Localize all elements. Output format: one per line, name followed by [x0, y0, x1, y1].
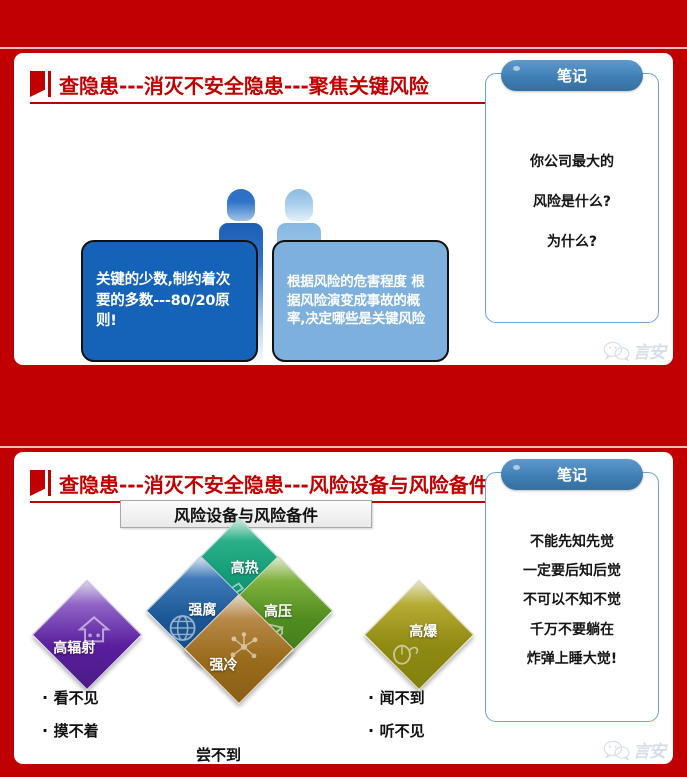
notes-panel-1: 笔记 你公司最大的 风险是什么? 为什么? — [485, 73, 659, 323]
house-icon — [77, 614, 111, 644]
list-item: 摸不着 — [42, 723, 99, 739]
watermark-2: 言安 — [603, 737, 665, 762]
mouse-icon — [391, 640, 423, 666]
diamond-label: 高爆 — [385, 621, 461, 641]
callout-right-text: 根据风险的危害程度 根据风险演变成事故的概率,决定哪些是关键风险 — [287, 273, 434, 329]
list-item: 听不见 — [368, 723, 425, 739]
slide-1: 查隐患---消灭不安全隐患---聚焦关键风险 关键的少数,制约着次要的多数---… — [14, 53, 673, 365]
notes-line: 一定要后知后觉 — [523, 558, 621, 585]
red-flag-icon — [30, 470, 52, 496]
notes-line: 你公司最大的 — [530, 146, 614, 178]
page-title: 查隐患---消灭不安全隐患---风险设备与风险备件 — [59, 469, 489, 498]
callout-left-text: 关键的少数,制约着次要的多数---80/20原则! — [96, 270, 243, 332]
notes-line: 为什么? — [547, 226, 597, 258]
watermark-text: 言安 — [633, 737, 665, 762]
notes-body-2: 不能先知先觉 一定要后知后觉 不可以不知不觉 千万不要躺在 炸弹上睡大觉! — [494, 503, 650, 699]
notes-line: 千万不要躺在 — [530, 617, 614, 644]
notes-line: 不可以不知不觉 — [523, 587, 621, 614]
notes-body-1: 你公司最大的 风险是什么? 为什么? — [494, 104, 650, 300]
bullets-right: 闻不到 听不见 — [368, 690, 425, 756]
notes-panel-2: 笔记 不能先知先觉 一定要后知后觉 不可以不知不觉 千万不要躺在 炸弹上睡大觉! — [485, 472, 659, 722]
callout-key-minority: 关键的少数,制约着次要的多数---80/20原则! — [81, 240, 258, 362]
watermark-1: 言安 — [603, 338, 665, 363]
notes-line: 炸弹上睡大觉! — [527, 646, 617, 673]
list-item: 闻不到 — [368, 690, 425, 706]
notes-header-2: 笔记 — [501, 459, 643, 490]
notes-header-1: 笔记 — [501, 60, 643, 91]
bullets-left: 看不见 摸不着 — [42, 690, 99, 756]
page-title: 查隐患---消灭不安全隐患---聚焦关键风险 — [59, 70, 429, 99]
top-band-hairline — [0, 47, 687, 49]
list-item: 看不见 — [42, 690, 99, 706]
wechat-icon — [603, 341, 631, 361]
diagram-bottom-label: 尝不到 — [196, 744, 241, 765]
watermark-text: 言安 — [633, 338, 665, 363]
divider-hairline — [0, 446, 687, 448]
wechat-icon — [603, 740, 631, 760]
molecule-icon — [228, 632, 260, 662]
red-flag-icon — [30, 71, 52, 97]
callout-risk-severity: 根据风险的危害程度 根据风险演变成事故的概率,决定哪些是关键风险 — [272, 240, 449, 362]
notes-line: 不能先知先觉 — [530, 529, 614, 556]
divider-band — [0, 365, 687, 452]
diagram-heading: 风险设备与风险备件 — [120, 500, 372, 528]
notes-line: 风险是什么? — [533, 186, 611, 218]
page-root: 查隐患---消灭不安全隐患---聚焦关键风险 关键的少数,制约着次要的多数---… — [0, 0, 687, 777]
